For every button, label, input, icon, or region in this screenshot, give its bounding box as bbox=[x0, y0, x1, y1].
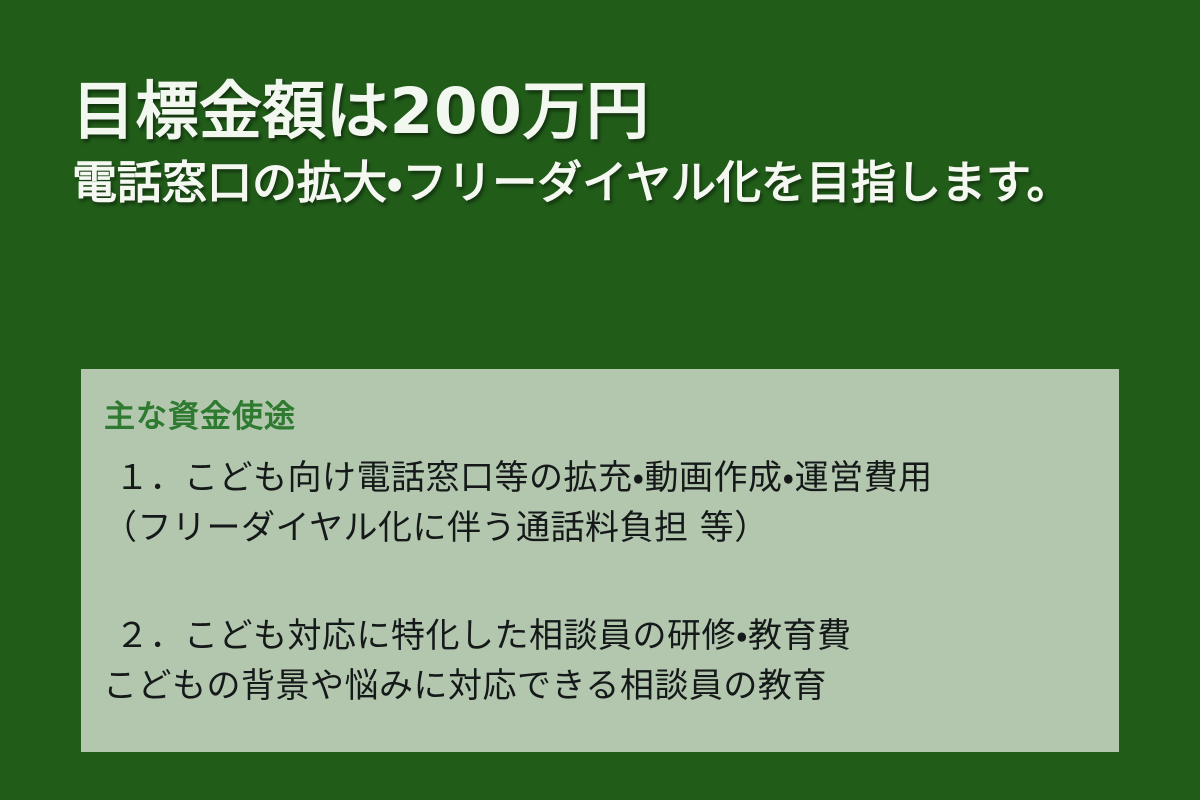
fund-usage-list: １．こども向け電話窓口等の拡充・動画作成・運営費用 （フリーダイヤル化に伴う通話… bbox=[103, 453, 1097, 711]
list-item: １．こども向け電話窓口等の拡充・動画作成・運営費用 （フリーダイヤル化に伴う通話… bbox=[103, 453, 1097, 553]
list-item: ２．こども対応に特化した相談員の研修・教育費 こどもの背景や悩みに対応できる相談… bbox=[103, 611, 1097, 711]
fund-usage-card: 主な資金使途 １．こども向け電話窓口等の拡充・動画作成・運営費用 （フリーダイヤ… bbox=[81, 369, 1119, 752]
usage-item-2-line-2: こどもの背景や悩みに対応できる相談員の教育 bbox=[103, 661, 1097, 711]
usage-item-1-line-2: （フリーダイヤル化に伴う通話料負担 等） bbox=[103, 503, 1097, 553]
slide-root: 目標金額は200万円 電話窓口の拡大・フリーダイヤル化を目指します。 主な資金使… bbox=[0, 0, 1200, 800]
card-heading: 主な資金使途 bbox=[103, 397, 1097, 437]
page-subtitle: 電話窓口の拡大・フリーダイヤル化を目指します。 bbox=[72, 154, 1157, 211]
usage-item-2-line-1: ２．こども対応に特化した相談員の研修・教育費 bbox=[103, 611, 1097, 661]
page-title: 目標金額は200万円 bbox=[72, 74, 1162, 150]
usage-item-1-line-1: １．こども向け電話窓口等の拡充・動画作成・運営費用 bbox=[103, 453, 1097, 503]
headline-block: 目標金額は200万円 電話窓口の拡大・フリーダイヤル化を目指します。 bbox=[72, 74, 1162, 211]
